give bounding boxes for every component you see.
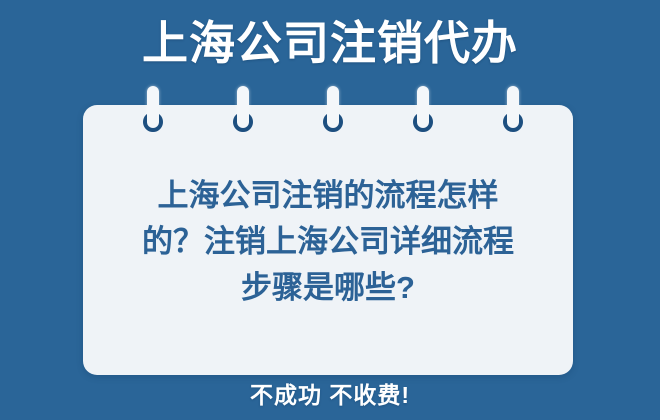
- binding-ring-cap: [417, 106, 429, 128]
- binding-ring-icon-4: [413, 86, 433, 136]
- headline-line-2: 的？注销上海公司详细流程: [83, 219, 573, 265]
- headline-line-3: 步骤是哪些?: [83, 265, 573, 311]
- binding-ring-icon-3: [323, 86, 343, 136]
- binding-ring-cap: [507, 106, 519, 128]
- binding-ring-cap: [237, 106, 249, 128]
- binding-ring-icon-1: [143, 86, 163, 136]
- binding-ring-cap: [147, 106, 159, 128]
- binding-ring-cap: [327, 106, 339, 128]
- footer-slogan: 不成功 不收费!: [0, 380, 660, 410]
- page-title: 上海公司注销代办: [0, 14, 660, 72]
- poster-canvas: 上海公司注销代办 上海公司注销的流程怎样 的？注销上海公司详细流程 步骤是哪些?…: [0, 0, 660, 420]
- card-headline: 上海公司注销的流程怎样 的？注销上海公司详细流程 步骤是哪些?: [83, 173, 573, 311]
- binding-ring-icon-5: [503, 86, 523, 136]
- headline-line-1: 上海公司注销的流程怎样: [83, 173, 573, 219]
- binding-ring-icon-2: [233, 86, 253, 136]
- note-card: 上海公司注销的流程怎样 的？注销上海公司详细流程 步骤是哪些?: [83, 105, 573, 375]
